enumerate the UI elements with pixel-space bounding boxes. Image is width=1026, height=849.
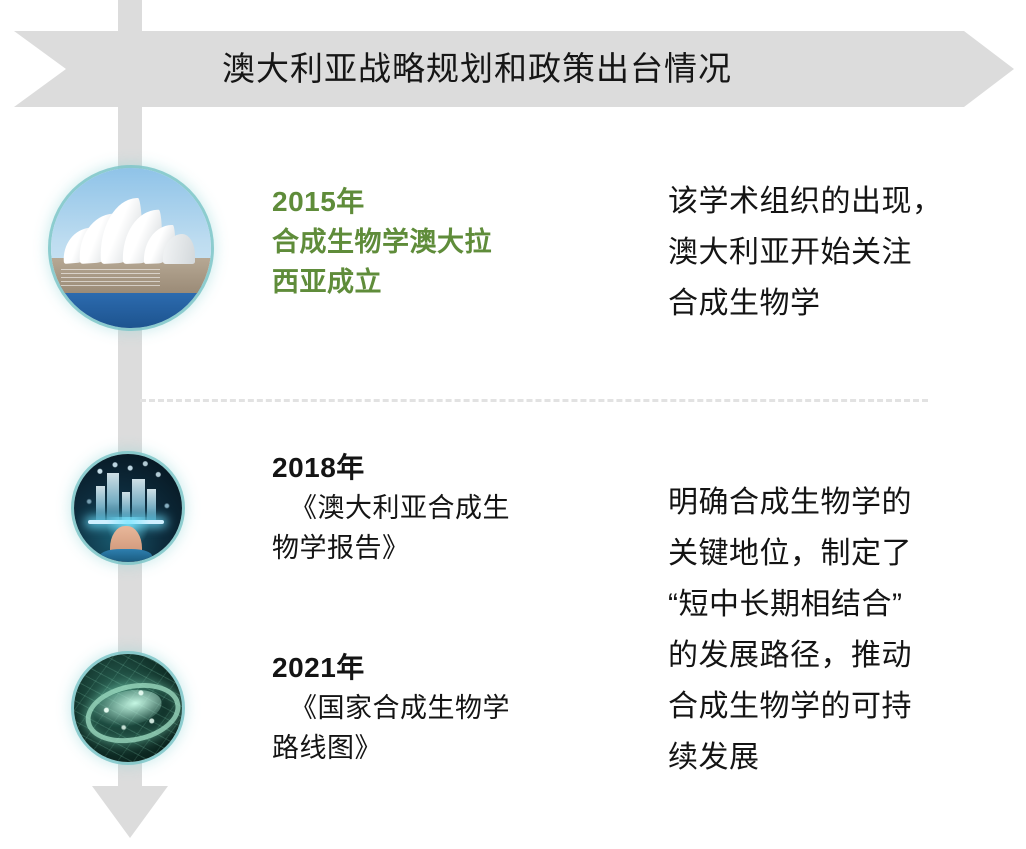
- podium-detail: [61, 269, 160, 287]
- entry-2015-desc-line2: 澳大利亚开始关注: [668, 236, 912, 269]
- entry-2015-year: 2015年: [272, 182, 612, 222]
- entry-2021-title-line1: 《国家合成生物学: [272, 688, 612, 728]
- shared-desc-line3: “短中长期相结合”: [668, 588, 902, 621]
- entry-2015-desc-line3: 合成生物学: [668, 287, 821, 320]
- entry-2015-description: 该学术组织的出现， 澳大利亚开始关注 合成生物学: [668, 176, 978, 329]
- entry-2015-description-block: 该学术组织的出现， 澳大利亚开始关注 合成生物学: [668, 176, 978, 329]
- thumbnail-circuit-chip[interactable]: [74, 654, 182, 762]
- entry-2021-title-line2: 路线图》: [272, 733, 382, 763]
- entry-2015-title: 合成生物学澳大拉 西亚成立: [272, 222, 612, 302]
- entry-2015-title-line2: 西亚成立: [272, 267, 382, 297]
- timeline-arrow-icon: [92, 786, 168, 838]
- futuristic-city-illustration: [74, 454, 182, 562]
- shared-desc-line4: 的发展路径，推动: [668, 639, 912, 672]
- opera-house-illustration: [51, 168, 211, 328]
- shared-description-block: 明确合成生物学的 关键地位，制定了 “短中长期相结合” 的发展路径，推动 合成生…: [668, 477, 978, 783]
- entry-2018-title: 《澳大利亚合成生 物学报告》: [272, 488, 612, 568]
- page-title: 澳大利亚战略规划和政策出台情况: [222, 38, 962, 100]
- section-divider: [140, 399, 928, 402]
- entry-2021-year: 2021年: [272, 648, 612, 688]
- entry-2015-label-block: 2015年 合成生物学澳大拉 西亚成立: [272, 182, 612, 302]
- entry-2018-year: 2018年: [272, 448, 612, 488]
- shared-description: 明确合成生物学的 关键地位，制定了 “短中长期相结合” 的发展路径，推动 合成生…: [668, 477, 978, 783]
- entry-2021-title: 《国家合成生物学 路线图》: [272, 688, 612, 768]
- entry-2018-label-block: 2018年 《澳大利亚合成生 物学报告》: [272, 448, 612, 568]
- entry-2018-title-line2: 物学报告》: [272, 533, 410, 563]
- shared-desc-line1: 明确合成生物学的: [668, 486, 912, 519]
- thumbnail-sydney-opera-house[interactable]: [51, 168, 211, 328]
- circuit-chip-illustration: [74, 654, 182, 762]
- shared-desc-line2: 关键地位，制定了: [668, 537, 912, 570]
- entry-2018-title-line1: 《澳大利亚合成生: [272, 488, 612, 528]
- shared-desc-line6: 续发展: [668, 741, 760, 774]
- thumbnail-futuristic-city[interactable]: [74, 454, 182, 562]
- spark-dots: [74, 654, 182, 762]
- entry-2015-desc-line1: 该学术组织的出现，: [668, 185, 943, 218]
- shared-desc-line5: 合成生物学的可持: [668, 690, 912, 723]
- particle-dots: [74, 454, 182, 562]
- entry-2015-title-line1: 合成生物学澳大拉: [272, 227, 492, 257]
- infographic-canvas: 澳大利亚战略规划和政策出台情况 2015年 合成生物学澳大拉 西亚成立 该学术组…: [0, 0, 1026, 849]
- entry-2021-label-block: 2021年 《国家合成生物学 路线图》: [272, 648, 612, 768]
